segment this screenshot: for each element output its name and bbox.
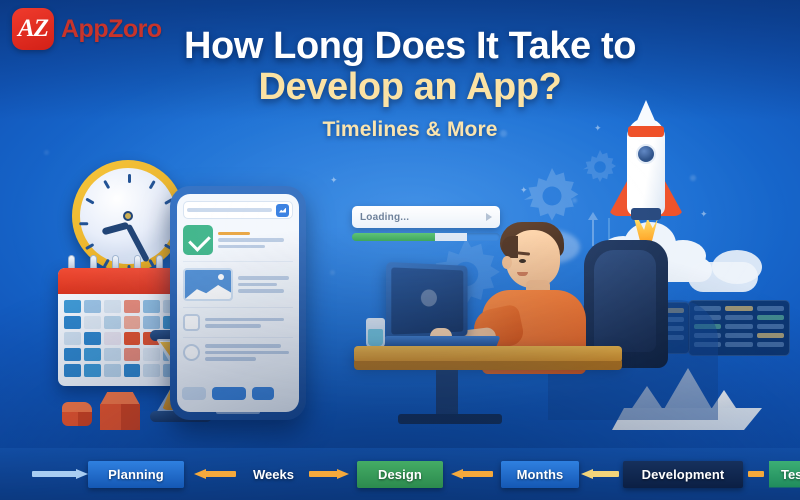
calendar-cell — [143, 316, 160, 329]
logo-wordmark: AppZoro — [61, 15, 162, 44]
dash-cell — [757, 342, 784, 347]
list-item[interactable] — [183, 344, 293, 367]
process-timeline: Planning Weeks Design Months Development — [0, 448, 800, 500]
loading-widget: Loading... — [352, 206, 500, 241]
timeline-step-testing[interactable]: Testing — [769, 461, 800, 488]
clock-tick — [149, 180, 156, 189]
person-eye — [519, 259, 526, 263]
calendar-cell — [84, 300, 101, 313]
loading-bar-box: Loading... — [352, 206, 500, 228]
logo-mark-text: AZ — [12, 8, 54, 50]
clock-tick — [79, 223, 88, 226]
radio-icon[interactable] — [183, 344, 200, 361]
nav-pill-active[interactable] — [212, 387, 246, 400]
sparkle-icon: ✦ — [520, 186, 528, 195]
person-ear — [502, 256, 512, 269]
brand-logo[interactable]: AZ AppZoro — [12, 8, 162, 50]
progress-fill — [352, 233, 435, 241]
laptop-screen — [386, 262, 468, 340]
bokeh-dot — [330, 270, 335, 275]
calendar-cell — [64, 348, 81, 361]
cube-large — [100, 392, 140, 430]
calendar-cell — [84, 316, 101, 329]
progress-track — [352, 233, 500, 241]
timeline-step-development[interactable]: Development — [623, 461, 743, 488]
checkbox-checked-icon[interactable] — [183, 225, 213, 255]
calendar-cell — [104, 332, 121, 345]
laptop-logo — [421, 289, 437, 306]
calendar-cell — [143, 300, 160, 313]
calendar-cell — [64, 332, 81, 345]
item-text-lines — [205, 344, 293, 361]
cube-small — [62, 402, 92, 426]
sparkle-icon: ✦ — [700, 210, 708, 219]
calendar-cell — [104, 364, 121, 377]
dash-cell — [725, 306, 752, 311]
calendar-cell — [84, 332, 101, 345]
item-text-lines — [218, 232, 293, 249]
calendar-cell — [64, 300, 81, 313]
arrow-left-icon — [581, 469, 619, 480]
chair-pad — [594, 250, 656, 352]
dash-cell — [725, 315, 752, 320]
logo-mark-icon: AZ — [12, 8, 54, 50]
phone-bottom-nav[interactable] — [182, 387, 294, 400]
person-hair-side — [502, 236, 518, 258]
glass-liquid — [368, 329, 383, 346]
calendar-cell — [124, 316, 141, 329]
home-indicator — [216, 410, 260, 414]
checkbox-icon[interactable] — [183, 314, 200, 331]
desk-edge — [354, 361, 622, 370]
desk-leg — [436, 370, 458, 418]
image-thumbnail-icon — [183, 268, 233, 301]
gear-icon-large — [524, 168, 580, 224]
calendar-cell — [124, 332, 141, 345]
loading-label: Loading... — [360, 212, 409, 223]
clock-center-pin — [123, 211, 133, 221]
headline-line-1: How Long Does It Take to — [150, 26, 670, 66]
nav-pill[interactable] — [182, 387, 206, 400]
item-text-lines — [205, 318, 293, 328]
desk-base — [398, 414, 502, 424]
calendar-cell — [64, 316, 81, 329]
arrow-left-icon — [451, 469, 493, 480]
dash-cell — [757, 315, 784, 320]
calendar-cell — [124, 348, 141, 361]
calendar-cell — [104, 348, 121, 361]
item-text-lines — [238, 276, 293, 293]
arrow-right-icon — [32, 469, 88, 480]
bokeh-dot — [572, 198, 577, 203]
drink-glass — [366, 318, 385, 348]
nav-pill[interactable] — [252, 387, 274, 400]
clock-tick — [103, 180, 110, 189]
clock-tick — [85, 198, 94, 205]
list-item[interactable] — [183, 314, 293, 338]
rocket-porthole — [636, 144, 656, 164]
list-item[interactable] — [183, 225, 293, 262]
calendar-cell — [84, 348, 101, 361]
timeline-inner: Planning Weeks Design Months Development — [0, 448, 800, 500]
calendar-cell — [104, 316, 121, 329]
sparkle-icon: ✦ — [330, 176, 338, 185]
calendar-cell — [84, 364, 101, 377]
arrow-left-icon-small — [748, 469, 764, 480]
arrow-left-icon — [194, 469, 236, 480]
calendar-header — [58, 268, 186, 294]
analog-clock — [72, 160, 184, 272]
list-item[interactable] — [183, 268, 293, 308]
search-input[interactable] — [183, 201, 293, 219]
calendar-cell — [64, 364, 81, 377]
clock-tick — [128, 174, 131, 183]
calendar-cell — [104, 300, 121, 313]
phone-screen — [177, 194, 299, 412]
dash-cell — [725, 333, 752, 338]
cloud-shape — [712, 250, 762, 284]
clock-hour-hand — [101, 222, 129, 236]
dash-cell — [725, 342, 752, 347]
rocket-base — [631, 208, 661, 220]
timeline-step-months[interactable]: Months — [501, 461, 579, 488]
chevron-right-icon[interactable] — [486, 213, 492, 221]
search-placeholder-line — [187, 208, 272, 212]
calendar-cell — [124, 300, 141, 313]
progress-fill-secondary — [435, 233, 468, 241]
calendar-cell — [124, 364, 141, 377]
arrow-right-icon — [309, 469, 349, 480]
infographic-banner: ✦ ✦ ✦ ✦ — [0, 0, 800, 500]
bokeh-dot — [690, 175, 696, 181]
timeline-step-design[interactable]: Design — [357, 461, 443, 488]
search-icon[interactable] — [276, 204, 289, 217]
headline-subtitle: Timelines & More — [150, 118, 670, 142]
bokeh-dot — [44, 150, 49, 155]
timeline-label-weeks: Weeks — [246, 467, 301, 482]
smartphone-mockup[interactable] — [170, 186, 306, 420]
timeline-step-planning[interactable]: Planning — [88, 461, 184, 488]
headline-block: How Long Does It Take to Develop an App?… — [150, 26, 670, 142]
dash-cell — [757, 333, 784, 338]
dash-cell — [757, 306, 784, 311]
dash-cell — [725, 324, 752, 329]
clock-face — [80, 168, 176, 264]
headline-line-2: Develop an App? — [150, 66, 670, 109]
developer-scene — [378, 222, 678, 432]
dash-cell — [757, 324, 784, 329]
